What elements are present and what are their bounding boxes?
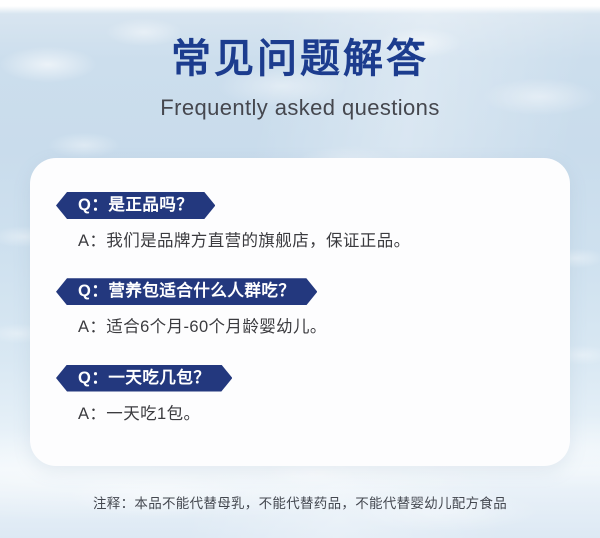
answer-text: A：一天吃1包。 bbox=[78, 403, 544, 425]
question-badge: Q：是正品吗？ bbox=[56, 192, 215, 219]
page-header: 常见问题解答 Frequently asked questions bbox=[0, 0, 600, 122]
page-subtitle: Frequently asked questions bbox=[0, 95, 600, 121]
faq-card: Q：是正品吗？ A：我们是品牌方直营的旗舰店，保证正品。 Q：营养包适合什么人群… bbox=[30, 158, 570, 466]
answer-text: A：我们是品牌方直营的旗舰店，保证正品。 bbox=[78, 230, 544, 252]
faq-item: Q：营养包适合什么人群吃？ A：适合6个月-60个月龄婴幼儿。 bbox=[56, 278, 544, 338]
faq-item: Q：是正品吗？ A：我们是品牌方直营的旗舰店，保证正品。 bbox=[56, 192, 544, 252]
answer-text: A：适合6个月-60个月龄婴幼儿。 bbox=[78, 316, 544, 338]
disclaimer-note: 注释：本品不能代替母乳，不能代替药品，不能代替婴幼儿配方食品 bbox=[0, 492, 600, 512]
question-badge: Q：营养包适合什么人群吃？ bbox=[56, 278, 317, 305]
page-title: 常见问题解答 bbox=[0, 36, 600, 83]
faq-page: 常见问题解答 Frequently asked questions Q：是正品吗… bbox=[0, 0, 600, 538]
faq-item: Q：一天吃几包？ A：一天吃1包。 bbox=[56, 365, 544, 425]
question-badge: Q：一天吃几包？ bbox=[56, 365, 232, 392]
